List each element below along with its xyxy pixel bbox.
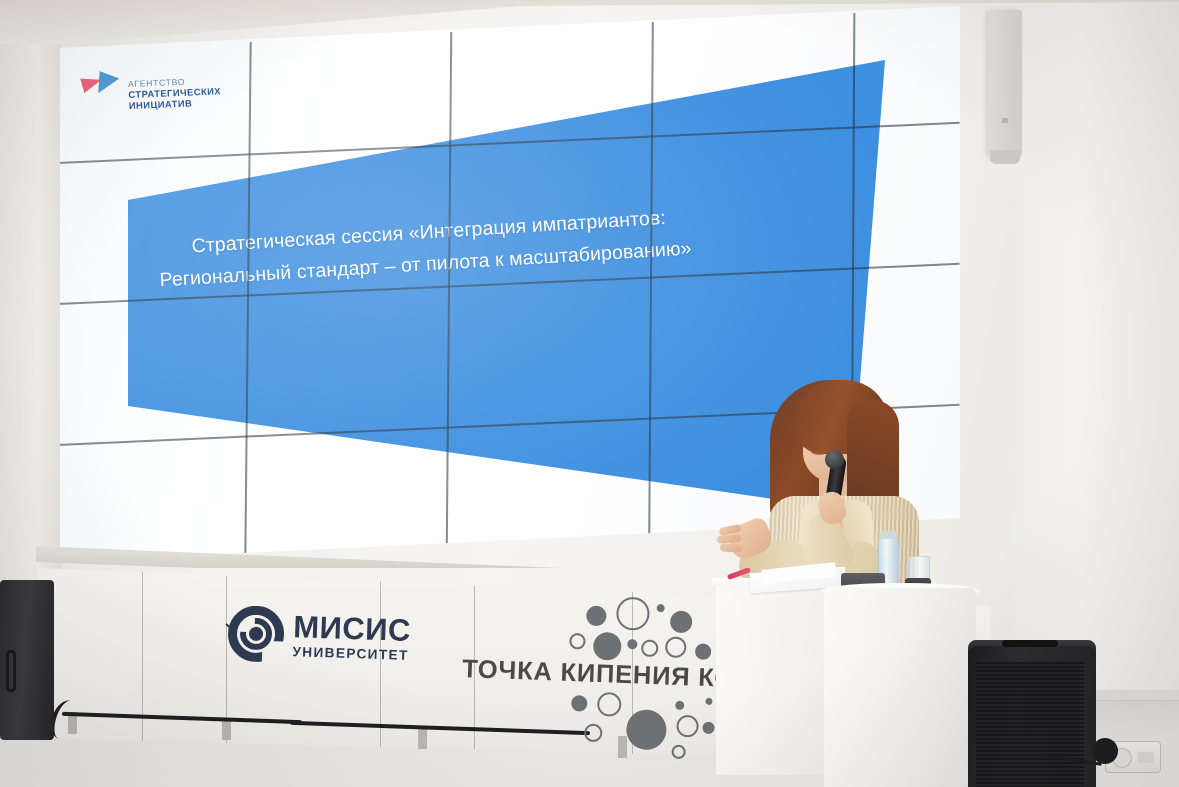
floor-speaker-right-handle-icon [1002,640,1058,647]
podium [824,588,976,787]
power-plug-icon [1092,738,1118,764]
cabinet-door-seam [380,580,381,760]
presentation-room-photo: АГЕНТСТВО СТРАТЕГИЧЕСКИХ ИНИЦИАТИВ Страт… [0,0,1179,787]
side-table [716,585,838,775]
misis-logo-mark-icon [227,605,285,663]
asi-logo: АГЕНТСТВО СТРАТЕГИЧЕСКИХ ИНИЦИАТИВ [81,71,126,99]
cabinet-leg [418,727,427,749]
presenter-finger [717,534,741,544]
misis-logo: МИСИС УНИВЕРСИТЕТ [227,605,411,667]
left-wall-column [0,0,62,620]
asi-logo-mark-icon [81,71,126,99]
asi-triangle-blue-icon [98,71,119,94]
wall-speaker-led-icon [1002,118,1008,123]
wall-speaker-icon [988,10,1022,158]
presenter-finger [720,543,743,553]
misis-logo-text: МИСИС УНИВЕРСИТЕТ [292,611,411,662]
cabinet-door-seam [142,570,143,746]
asi-logo-text: АГЕНТСТВО СТРАТЕГИЧЕСКИХ ИНИЦИАТИВ [128,75,222,111]
floor-speaker-left-handle-icon [6,650,16,692]
misis-subtitle: УНИВЕРСИТЕТ [292,645,410,662]
water-bottle-cap-icon [881,531,896,539]
misis-name: МИСИС [293,611,412,646]
power-switch-icon[interactable] [1138,752,1154,763]
floor-speaker-right-grille-icon [976,662,1084,787]
wall-speaker-bracket [990,150,1020,164]
asi-logo-line3: ИНИЦИАТИВ [129,97,222,112]
